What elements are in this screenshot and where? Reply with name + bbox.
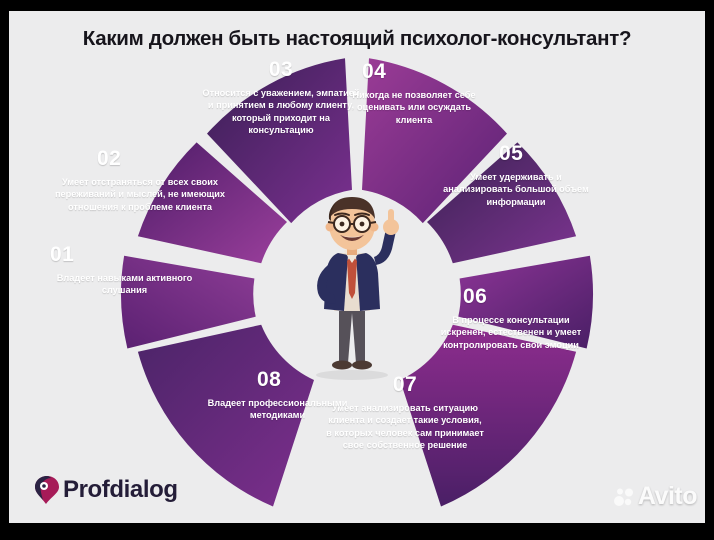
speech-bubble-pin-icon [34,475,60,505]
watermark-text: Avito [638,482,697,511]
logo-wordmark: Profdialog [63,476,178,504]
avito-dots-icon [613,487,635,507]
page-title: Каким должен быть настоящий психолог-кон… [9,27,705,51]
profdialog-logo: Profdialog [34,475,178,505]
avito-watermark: Avito [613,482,697,511]
wheel-segment-07[interactable] [400,325,576,507]
psychologist-character-illustration [292,193,422,383]
infographic-canvas: Каким должен быть настоящий психолог-кон… [9,11,705,523]
image-frame: Каким должен быть настоящий психолог-кон… [0,0,714,540]
